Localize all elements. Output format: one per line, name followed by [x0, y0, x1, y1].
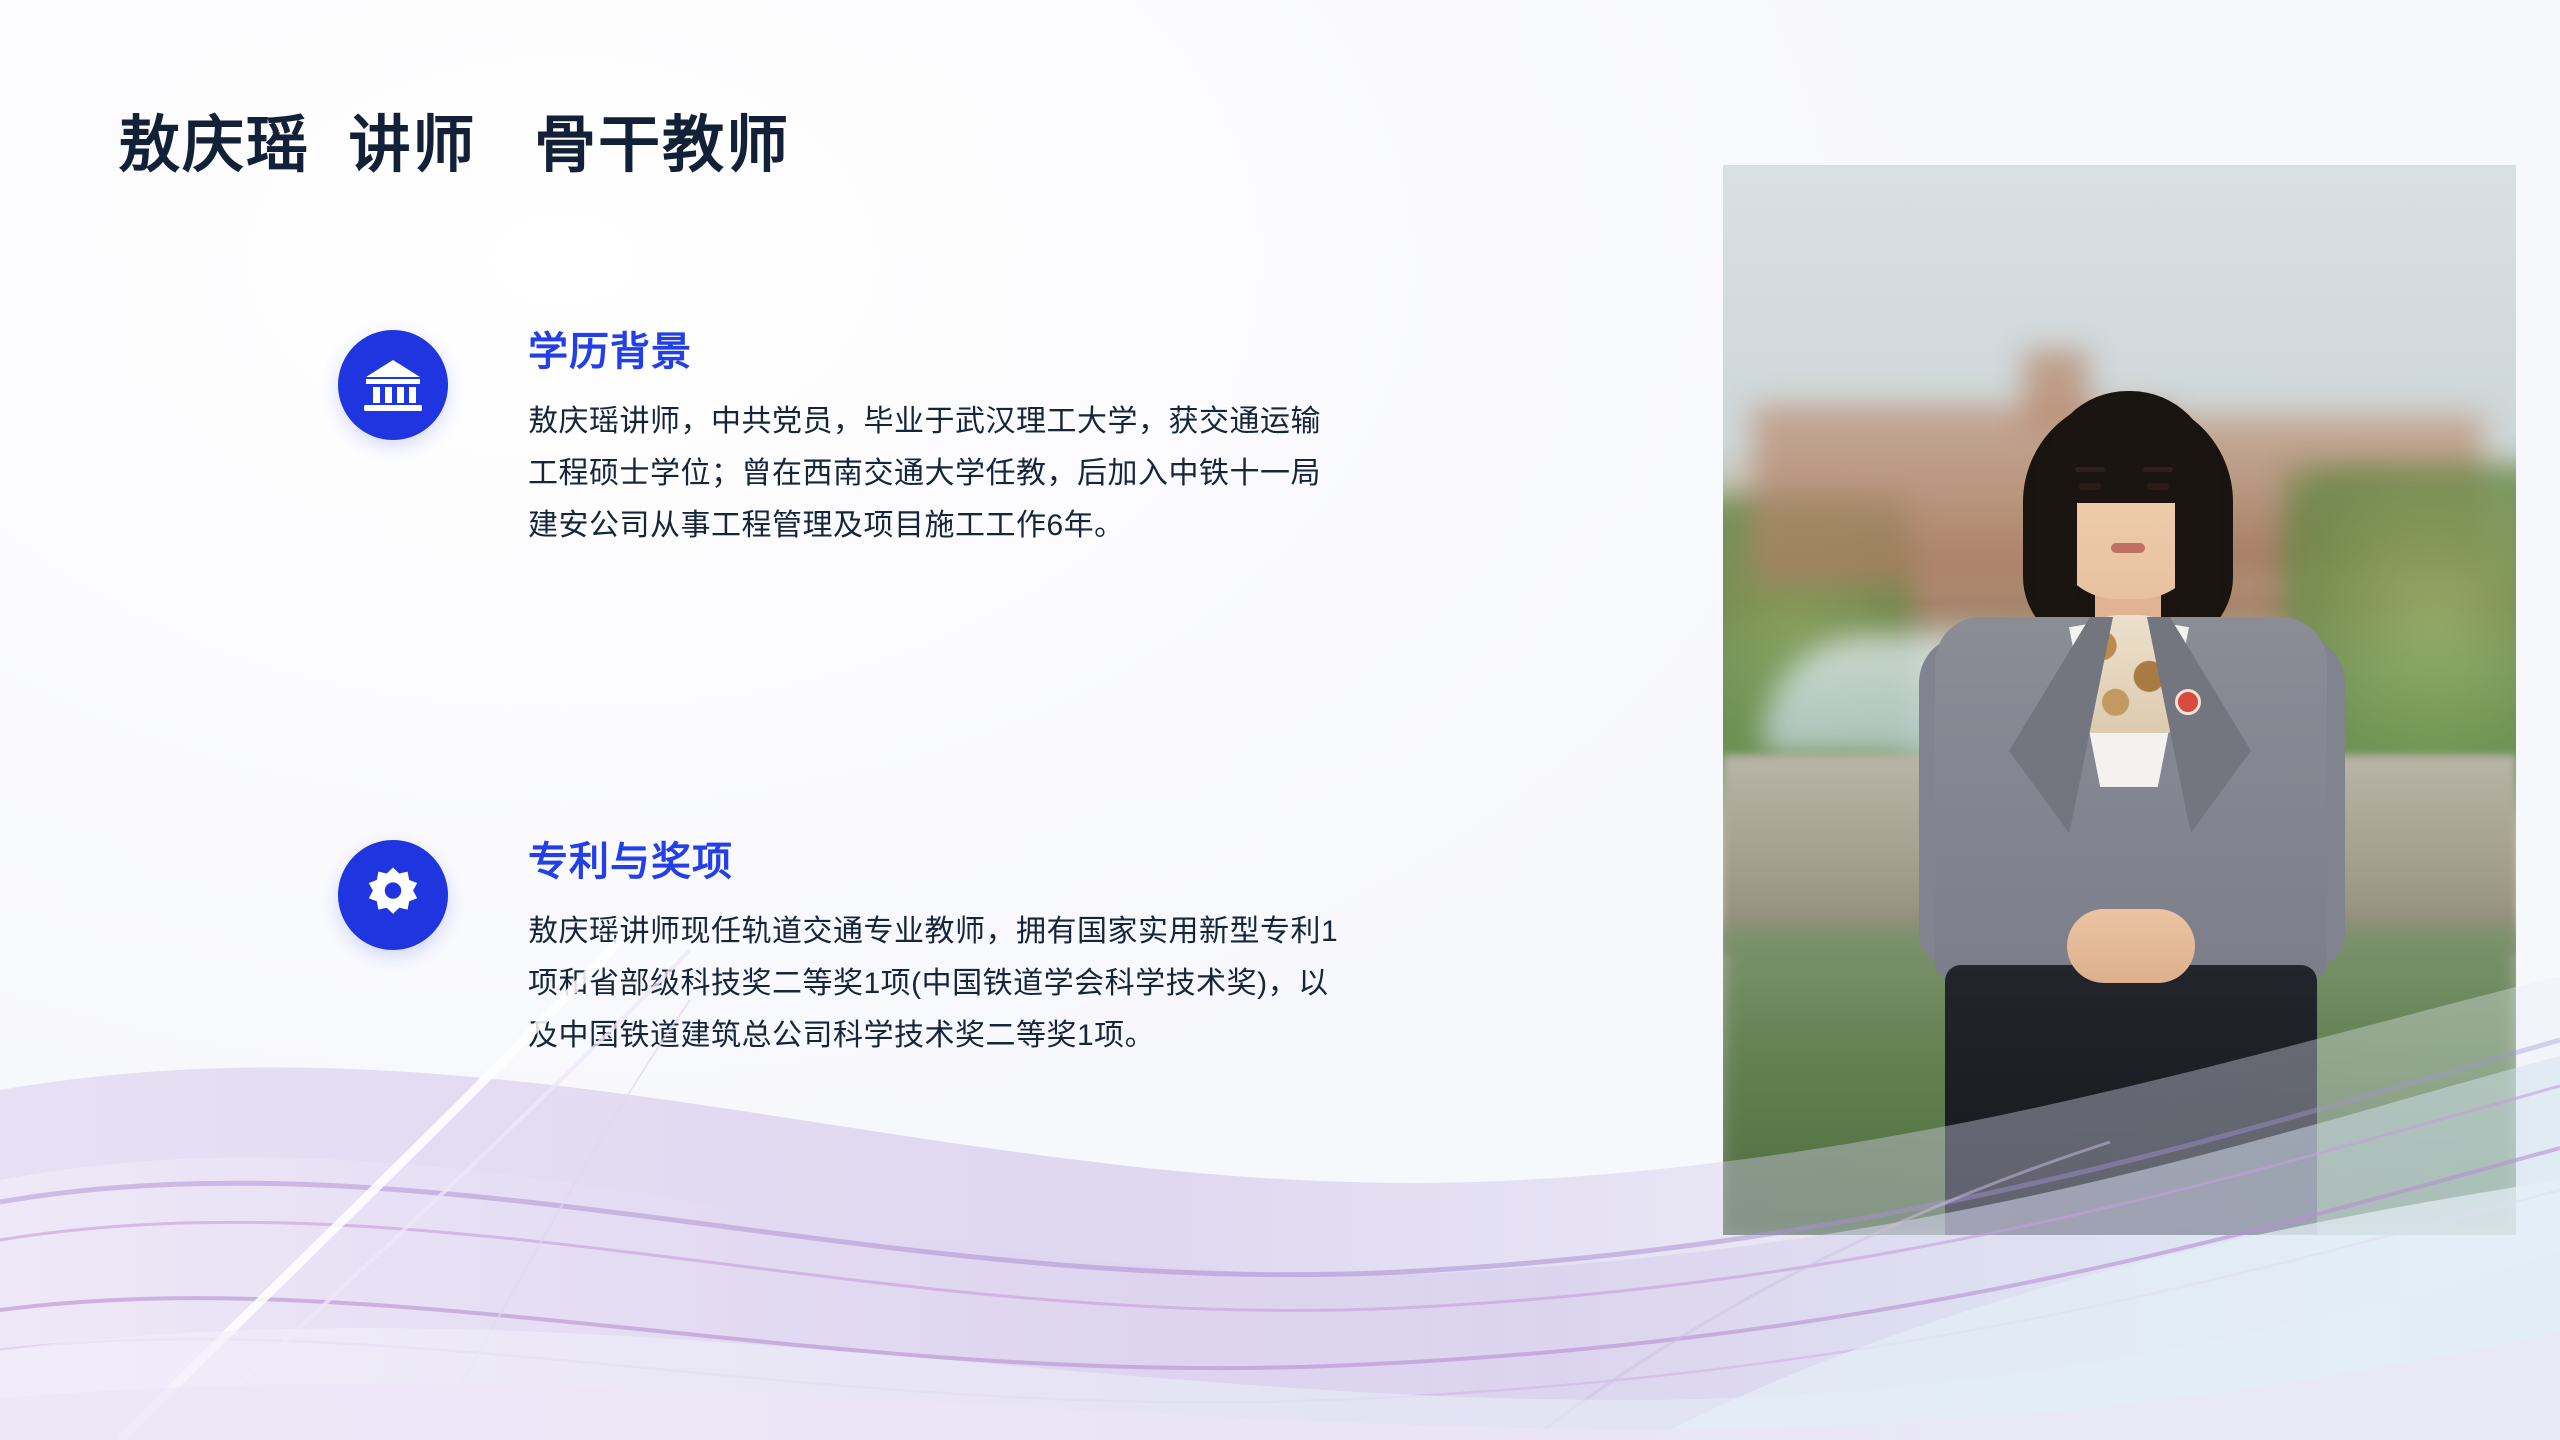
paragraph-line: 项和省部级科技奖二等奖1项(中国铁道学会科学技术奖)，以	[528, 958, 1478, 1010]
section-education-background: 学历背景 敖庆瑶讲师，中共党员，毕业于武汉理工大学，获交通运输 工程硕士学位；曾…	[338, 330, 1478, 552]
section-heading: 学历背景	[528, 330, 1478, 374]
portrait-hands	[2067, 909, 2195, 983]
portrait-eyebrow-left	[2075, 467, 2105, 472]
portrait-eye-right	[2147, 483, 2169, 490]
section-paragraph: 敖庆瑶讲师，中共党员，毕业于武汉理工大学，获交通运输 工程硕士学位；曾在西南交通…	[528, 396, 1478, 552]
portrait-eyebrow-right	[2143, 467, 2173, 472]
section-body: 专利与奖项 敖庆瑶讲师现任轨道交通专业教师，拥有国家实用新型专利1 项和省部级科…	[528, 840, 1478, 1062]
portrait-mouth	[2111, 543, 2145, 553]
portrait-skirt	[1945, 965, 2317, 1235]
portrait-hair-right	[2175, 445, 2219, 621]
portrait-hair-left	[2035, 445, 2077, 615]
portrait-image-content	[1723, 165, 2516, 1235]
paragraph-line: 敖庆瑶讲师，中共党员，毕业于武汉理工大学，获交通运输	[528, 396, 1478, 448]
paragraph-line: 及中国铁道建筑总公司科学技术奖二等奖1项。	[528, 1010, 1478, 1062]
section-heading: 专利与奖项	[528, 840, 1478, 884]
gear-icon-badge	[338, 840, 448, 950]
bank-building-icon-badge	[338, 330, 448, 440]
paragraph-line: 工程硕士学位；曾在西南交通大学任教，后加入中铁十一局	[528, 448, 1478, 500]
section-paragraph: 敖庆瑶讲师现任轨道交通专业教师，拥有国家实用新型专利1 项和省部级科技奖二等奖1…	[528, 906, 1478, 1062]
paragraph-line: 建安公司从事工程管理及项目施工工作6年。	[528, 500, 1478, 552]
portrait-eye-left	[2079, 483, 2101, 490]
slide-canvas: 敖庆瑶 讲师 骨干教师 学历背景 敖庆瑶讲师，中共党员，毕业于武汉理工大学，获交…	[0, 0, 2560, 1440]
gear-icon	[364, 866, 422, 924]
portrait-lapel-pin	[2175, 689, 2201, 715]
bank-building-icon	[364, 358, 422, 412]
section-patents-awards: 专利与奖项 敖庆瑶讲师现任轨道交通专业教师，拥有国家实用新型专利1 项和省部级科…	[338, 840, 1478, 1062]
paragraph-line: 敖庆瑶讲师现任轨道交通专业教师，拥有国家实用新型专利1	[528, 906, 1478, 958]
teacher-portrait-photo	[1723, 165, 2516, 1235]
page-title: 敖庆瑶 讲师 骨干教师	[118, 110, 790, 181]
section-body: 学历背景 敖庆瑶讲师，中共党员，毕业于武汉理工大学，获交通运输 工程硕士学位；曾…	[528, 330, 1478, 552]
